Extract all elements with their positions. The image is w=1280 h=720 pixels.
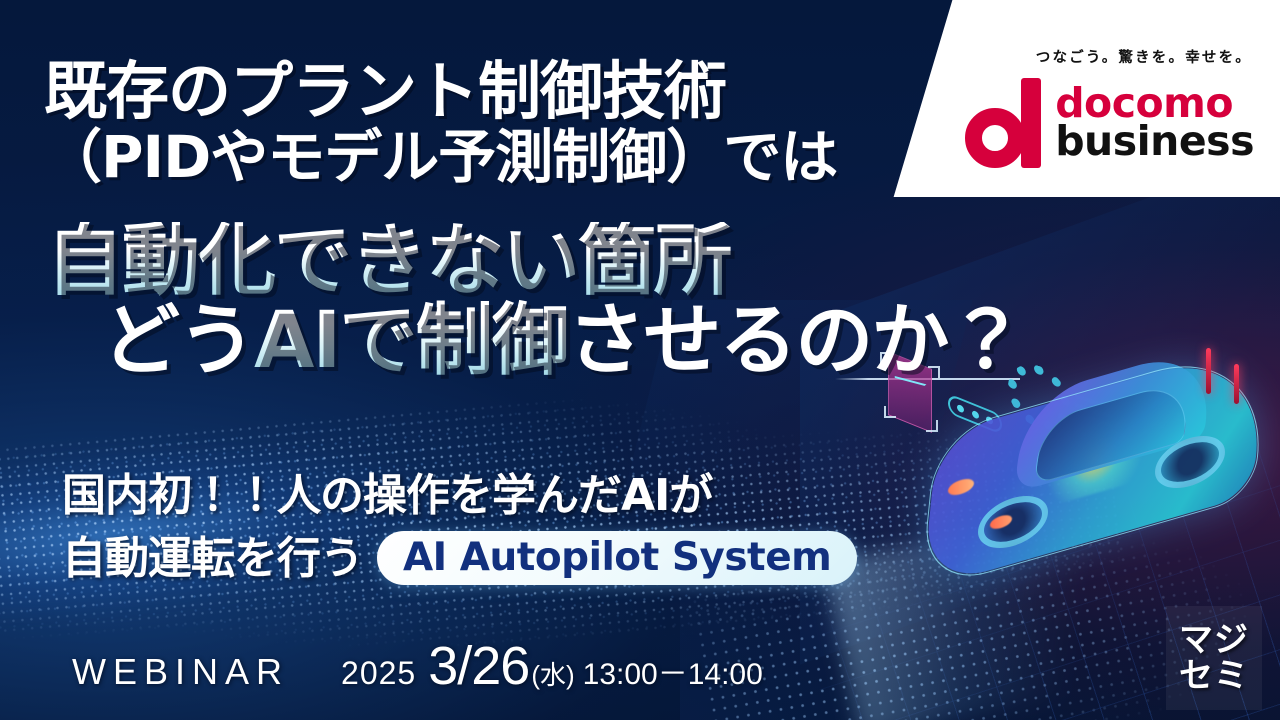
webinar-label: WEBINAR — [72, 651, 289, 693]
subhead-line-2-prefix: 自動運転を行う — [62, 533, 363, 584]
headline-line-1: 既存のプラント制御技術 — [44, 58, 884, 126]
subhead-line-2: 自動運転を行う AI Autopilot System — [62, 531, 982, 585]
car-taillight-left — [1206, 348, 1211, 394]
main-headline-seg-c: させるのか？ — [567, 296, 1023, 386]
subhead-block: 国内初！！人の操作を学んだAIが 自動運転を行う AI Autopilot Sy… — [62, 470, 982, 585]
main-headline-line-1: 自動化できない箇所 — [46, 222, 1106, 302]
webinar-year: 2025 — [341, 655, 416, 692]
main-headline-seg-b: AIで制御 — [254, 296, 567, 386]
docomo-d-mark-icon — [965, 78, 1041, 168]
webinar-dateline: WEBINAR 2025 3/26 (水) 13:00－14:00 — [72, 635, 763, 697]
webinar-weekday: (水) — [531, 655, 574, 692]
car-taillight-right — [1234, 364, 1239, 404]
webinar-banner: つなごう。驚きを。幸せを。 docomo business 既存のプラント制御技… — [0, 0, 1280, 720]
main-headline-line-2: どうAIで制御させるのか？ — [46, 302, 1106, 382]
subhead-line-1: 国内初！！人の操作を学んだAIが — [62, 470, 982, 521]
docomo-wordmark: docomo business — [1055, 85, 1254, 160]
main-headline-seg-a: どう — [102, 296, 254, 386]
webinar-time: 13:00－14:00 — [583, 649, 763, 693]
majisemi-line-2: セミ — [1179, 659, 1249, 693]
main-headline-block: 自動化できない箇所 どうAIで制御させるのか？ — [46, 222, 1106, 381]
docomo-tagline: つなごう。驚きを。幸せを。 — [1036, 46, 1252, 67]
webinar-date: 3/26 — [428, 635, 529, 697]
business-word: business — [1055, 123, 1254, 161]
product-name-badge: AI Autopilot System — [377, 531, 857, 585]
headline-line-2: （PIDやモデル予測制御）では — [44, 126, 884, 189]
docomo-logo-lockup: docomo business — [965, 78, 1254, 168]
majisemi-line-1: マジ — [1179, 623, 1249, 657]
majisemi-logo: マジ セミ — [1166, 606, 1262, 710]
headline-block: 既存のプラント制御技術 （PIDやモデル予測制御）では — [44, 58, 884, 189]
